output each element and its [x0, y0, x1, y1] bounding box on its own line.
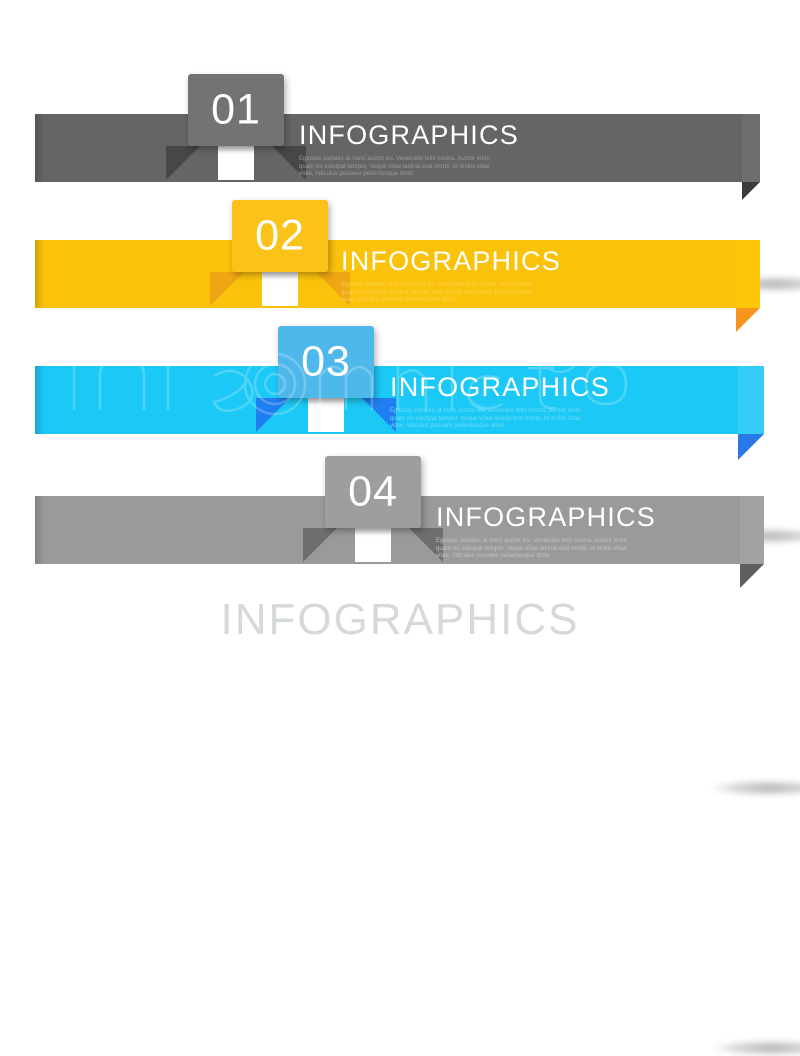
- tab-arrow-notch-shading: [355, 528, 391, 535]
- step-number-label: 04: [325, 471, 421, 514]
- ribbon-body-copy: Egestas sodales at nunc auctor eu. Venen…: [299, 156, 519, 179]
- body-line: vitae, ridiculus posuere pellentesque do…: [390, 423, 610, 431]
- body-line: vitae, ridiculus posuere pellentesque do…: [341, 297, 561, 305]
- body-line: Egestas sodales at nunc auctor eu. Venen…: [341, 282, 561, 290]
- band-left-shading: [35, 240, 44, 308]
- ribbon-headline: INFOGRAPHICS: [299, 122, 519, 149]
- step-number-tab[interactable]: 01: [188, 74, 284, 146]
- step-number-label: 03: [278, 341, 374, 384]
- ribbon-headline: INFOGRAPHICS: [341, 248, 561, 275]
- ribbon-text-block: INFOGRAPHICSEgestas sodales at nunc auct…: [341, 248, 561, 305]
- body-line: quam eu volutpat tempor, neque vitae lac…: [341, 290, 561, 298]
- body-line: vitae, ridiculus posuere pellentesque do…: [436, 553, 656, 561]
- tab-arrow-notch-shading: [218, 146, 254, 153]
- ribbon-fold-face: [742, 114, 760, 182]
- ribbon-body-copy: Egestas sodales at nunc auctor eu. Venen…: [436, 538, 656, 561]
- step-number-label: 01: [188, 89, 284, 132]
- ribbon-fold-triangle: [740, 564, 764, 588]
- ribbon-fold-face: [740, 496, 764, 564]
- tab-arrow-left: [303, 528, 337, 562]
- footer-title: INFOGRAPHICS: [0, 598, 800, 642]
- ribbon-fold-face: [738, 366, 764, 434]
- tab-arrow-left: [210, 272, 244, 306]
- ribbon-fold-triangle: [736, 308, 760, 332]
- ribbon-fold-face: [736, 240, 760, 308]
- step-number-tab[interactable]: 03: [278, 326, 374, 398]
- infographic-canvas: 01INFOGRAPHICSEgestas sodales at nunc au…: [0, 0, 800, 720]
- step-number-label: 02: [232, 215, 328, 258]
- tab-arrow-left: [166, 146, 200, 180]
- ribbon-fold-triangle: [738, 434, 764, 460]
- tab-arrow-notch-shading: [262, 272, 298, 279]
- ribbon-text-block: INFOGRAPHICSEgestas sodales at nunc auct…: [299, 122, 519, 179]
- band-left-shading: [35, 114, 44, 182]
- tab-arrow-notch-shading: [308, 398, 344, 405]
- body-line: Egestas sodales at nunc auctor eu. Venen…: [390, 408, 610, 416]
- ribbon-body-copy: Egestas sodales at nunc auctor eu. Venen…: [341, 282, 561, 305]
- band-left-shading: [35, 366, 44, 434]
- body-line: quam eu volutpat tempor, neque vitae lac…: [299, 164, 519, 172]
- fold-drop-shadow: [710, 780, 800, 796]
- step-number-tab[interactable]: 04: [325, 456, 421, 528]
- body-line: Egestas sodales at nunc auctor eu. Venen…: [299, 156, 519, 164]
- ribbon-text-block: INFOGRAPHICSEgestas sodales at nunc auct…: [390, 374, 610, 431]
- step-number-tab[interactable]: 02: [232, 200, 328, 272]
- fold-drop-shadow: [712, 1040, 800, 1056]
- ribbon-text-block: INFOGRAPHICSEgestas sodales at nunc auct…: [436, 504, 656, 561]
- body-line: quam eu volutpat tempor, neque vitae lac…: [390, 416, 610, 424]
- ribbon-body-copy: Egestas sodales at nunc auctor eu. Venen…: [390, 408, 610, 431]
- ribbon-headline: INFOGRAPHICS: [390, 374, 610, 401]
- body-line: Egestas sodales at nunc auctor eu. Venen…: [436, 538, 656, 546]
- ribbon-headline: INFOGRAPHICS: [436, 504, 656, 531]
- body-line: quam eu volutpat tempor, neque vitae lac…: [436, 546, 656, 554]
- body-line: vitae, ridiculus posuere pellentesque do…: [299, 171, 519, 179]
- band-left-shading: [35, 496, 44, 564]
- tab-arrow-left: [256, 398, 290, 432]
- ribbon-fold-triangle: [742, 182, 760, 200]
